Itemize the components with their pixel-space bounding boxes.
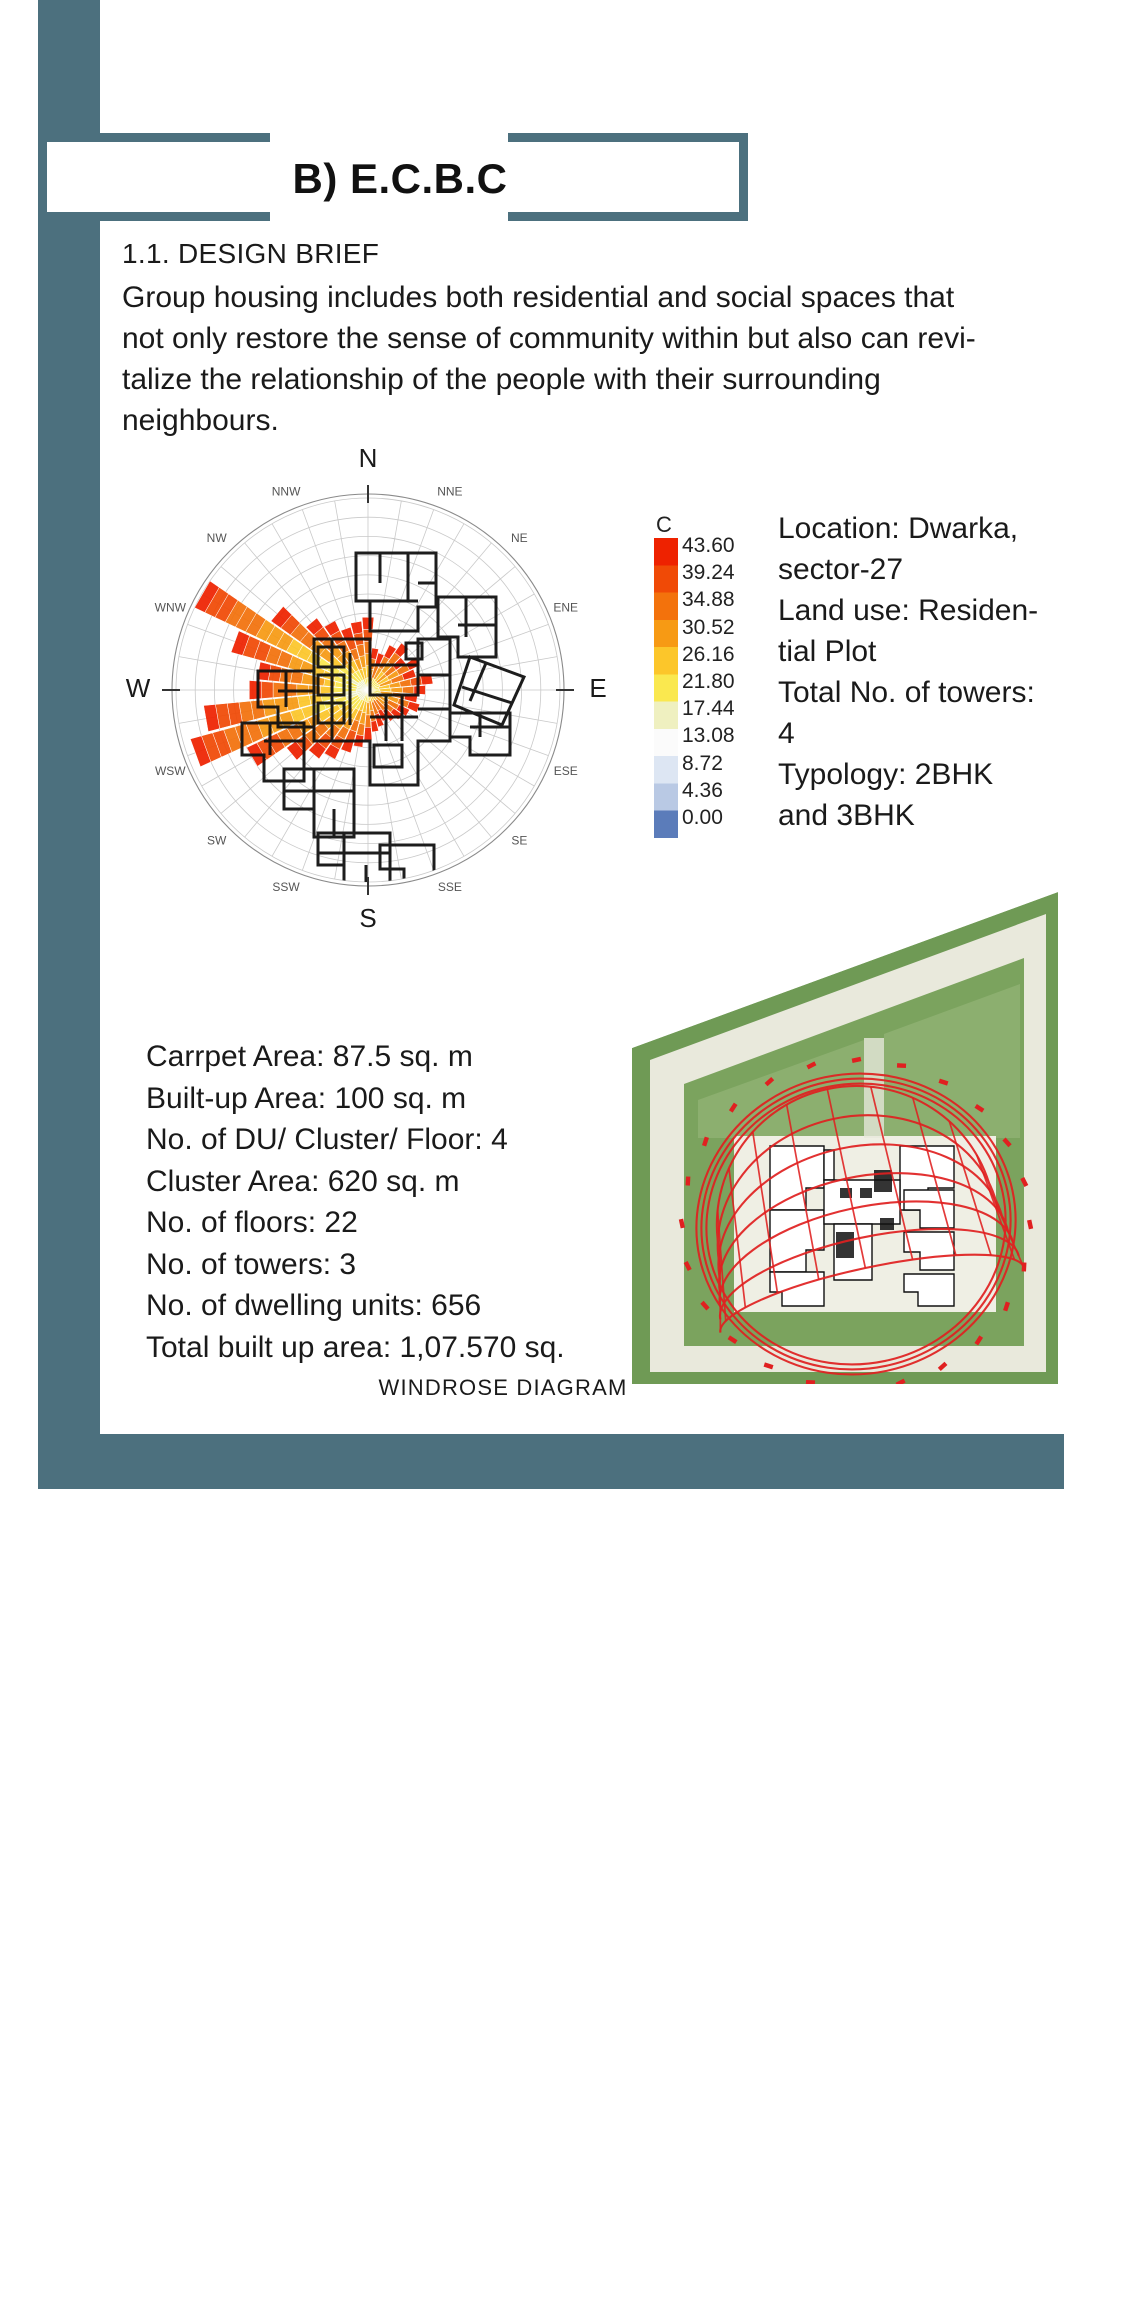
- stat-line-3: No. of DU/ Cluster/ Floor: 4: [146, 1119, 616, 1161]
- windrose-label-NE: NE: [511, 531, 528, 545]
- section-heading: 1.1. DESIGN BRIEF: [122, 238, 379, 270]
- legend-tick-6: 17.44: [682, 695, 760, 722]
- info-line-1: Location: Dwarka,: [778, 508, 1078, 549]
- windrose-label-E: E: [589, 673, 606, 703]
- info-line-7: Typology: 2BHK: [778, 754, 1078, 795]
- windrose-label-NNE: NNE: [437, 484, 462, 498]
- stat-line-8: Total built up area: 1,07.570 sq.: [146, 1327, 616, 1369]
- windrose-label-S: S: [359, 903, 376, 933]
- page-title: B) E.C.B.C: [150, 144, 650, 214]
- windrose-diagram: NNNENEENEEESESESSESSSWSWWSWWWNWNWNNW WIN…: [118, 425, 638, 955]
- info-line-3: Land use: Residen-: [778, 590, 1078, 631]
- left-accent-bar: [38, 0, 100, 1489]
- legend-tick-2: 34.88: [682, 586, 760, 613]
- project-stats-block: Carrpet Area: 87.5 sq. m Built-up Area: …: [146, 1036, 616, 1368]
- windrose-label-SSE: SSE: [438, 880, 462, 894]
- stat-line-1: Carrpet Area: 87.5 sq. m: [146, 1036, 616, 1078]
- legend-tick-10: 0.00: [682, 804, 760, 831]
- brief-line-2: not only restore the sense of community …: [122, 318, 1057, 359]
- bottom-accent-bar: [38, 1434, 1064, 1489]
- brief-line-1: Group housing includes both residential …: [122, 277, 1057, 318]
- sunpath-diagram: SUNPATH: [628, 888, 1062, 1388]
- windrose-label-W: W: [126, 673, 151, 703]
- windrose-label-WSW: WSW: [155, 764, 186, 778]
- stat-line-5: No. of floors: 22: [146, 1202, 616, 1244]
- sunpath-svg: [628, 888, 1062, 1388]
- info-line-8: and 3BHK: [778, 795, 1078, 836]
- legend-tick-3: 30.52: [682, 614, 760, 641]
- windrose-label-NW: NW: [207, 531, 228, 545]
- legend-tick-5: 21.80: [682, 668, 760, 695]
- legend-tick-4: 26.16: [682, 641, 760, 668]
- design-brief-paragraph: Group housing includes both residential …: [122, 277, 1057, 441]
- windrose-svg: NNNENEENEEESESESSESSSWSWWSWWWNWNWNNW: [118, 425, 638, 955]
- stat-line-2: Built-up Area: 100 sq. m: [146, 1078, 616, 1120]
- legend-tick-0: 43.60: [682, 532, 760, 559]
- windrose-label-ESE: ESE: [554, 764, 578, 778]
- info-line-5: Total No. of towers:: [778, 672, 1078, 713]
- legend-tick-7: 13.08: [682, 722, 760, 749]
- info-line-6: 4: [778, 713, 1078, 754]
- windrose-label-N: N: [359, 443, 378, 473]
- document-page: B) E.C.B.C 1.1. DESIGN BRIEF Group housi…: [0, 0, 1131, 1600]
- windrose-label-SE: SE: [511, 833, 527, 847]
- brief-line-3: talize the relationship of the people wi…: [122, 359, 1057, 400]
- windrose-label-ENE: ENE: [553, 600, 578, 614]
- legend-tick-1: 39.24: [682, 559, 760, 586]
- windrose-label-WNW: WNW: [155, 600, 187, 614]
- stat-line-4: Cluster Area: 620 sq. m: [146, 1161, 616, 1203]
- legend-tick-9: 4.36: [682, 777, 760, 804]
- info-line-2: sector-27: [778, 549, 1078, 590]
- legend-tick-8: 8.72: [682, 750, 760, 777]
- stat-line-7: No. of dwelling units: 656: [146, 1285, 616, 1327]
- info-line-4: tial Plot: [778, 631, 1078, 672]
- windrose-legend: C 43.6039.2434.8830.5226.1621.8017.4413.…: [650, 512, 760, 842]
- project-info-block: Location: Dwarka, sector-27 Land use: Re…: [778, 508, 1078, 836]
- windrose-label-SW: SW: [207, 833, 227, 847]
- legend-colorbar: [654, 538, 678, 838]
- legend-tick-labels: 43.6039.2434.8830.5226.1621.8017.4413.08…: [682, 532, 760, 831]
- stat-line-6: No. of towers: 3: [146, 1244, 616, 1286]
- windrose-label-NNW: NNW: [272, 484, 301, 498]
- legend-title: C: [656, 512, 672, 538]
- windrose-label-SSW: SSW: [272, 880, 300, 894]
